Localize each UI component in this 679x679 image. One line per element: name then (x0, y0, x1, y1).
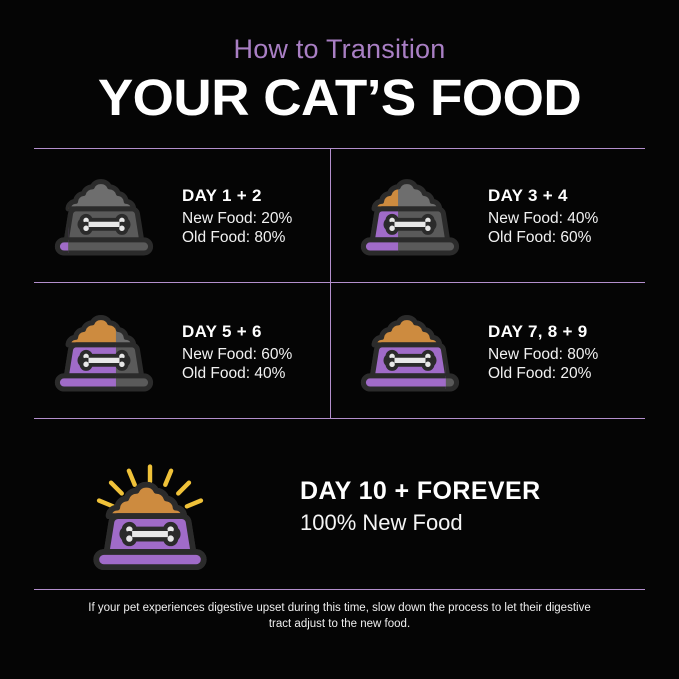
step-card-day-7-8-9: DAY 7, 8 + 9 New Food: 80% Old Food: 20% (340, 288, 636, 416)
pet-food-bowl-icon (348, 309, 472, 395)
pet-food-bowl-icon (42, 173, 166, 259)
new-food-line: New Food: 80% (488, 345, 598, 364)
old-food-line: Old Food: 60% (488, 228, 598, 247)
shine-rays-icon (55, 439, 245, 574)
bowl-illustration-day-5-6 (34, 309, 174, 395)
header: How to Transition YOUR CAT’S FOOD (0, 34, 679, 125)
old-food-line: Old Food: 20% (488, 364, 598, 383)
final-subtitle: 100% New Food (300, 509, 541, 537)
new-food-line: New Food: 20% (182, 209, 292, 228)
footer-note: If your pet experiences digestive upset … (78, 601, 601, 632)
bowl-illustration-day-7-8-9 (340, 309, 480, 395)
day-label: DAY 3 + 4 (488, 185, 598, 206)
final-step-card: DAY 10 + FOREVER 100% New Food (0, 432, 679, 580)
pet-food-bowl-icon (42, 309, 166, 395)
step-card-day-3-4: DAY 3 + 4 New Food: 40% Old Food: 60% (340, 152, 636, 280)
final-day-label: DAY 10 + FOREVER (300, 476, 541, 506)
page-title: YOUR CAT’S FOOD (0, 71, 679, 125)
infographic-page: How to Transition YOUR CAT’S FOOD DAY 1 … (0, 0, 679, 679)
step-text-day-5-6: DAY 5 + 6 New Food: 60% Old Food: 40% (182, 321, 292, 383)
new-food-line: New Food: 60% (182, 345, 292, 364)
day-label: DAY 1 + 2 (182, 185, 292, 206)
step-card-day-5-6: DAY 5 + 6 New Food: 60% Old Food: 40% (34, 288, 330, 416)
day-label: DAY 7, 8 + 9 (488, 321, 598, 342)
final-step-text: DAY 10 + FOREVER 100% New Food (300, 476, 541, 537)
step-card-day-1-2: DAY 1 + 2 New Food: 20% Old Food: 80% (34, 152, 330, 280)
step-text-day-3-4: DAY 3 + 4 New Food: 40% Old Food: 60% (488, 185, 598, 247)
old-food-line: Old Food: 40% (182, 364, 292, 383)
bowl-illustration-day-10-forever (0, 439, 300, 574)
pet-food-bowl-icon (348, 173, 472, 259)
bowl-illustration-day-1-2 (34, 173, 174, 259)
new-food-line: New Food: 40% (488, 209, 598, 228)
divider-grid-middle (34, 282, 645, 283)
old-food-line: Old Food: 80% (182, 228, 292, 247)
bowl-illustration-day-3-4 (340, 173, 480, 259)
day-label: DAY 5 + 6 (182, 321, 292, 342)
step-text-day-1-2: DAY 1 + 2 New Food: 20% Old Food: 80% (182, 185, 292, 247)
divider-footer (34, 589, 645, 590)
step-text-day-7-8-9: DAY 7, 8 + 9 New Food: 80% Old Food: 20% (488, 321, 598, 383)
divider-grid-top (34, 148, 645, 149)
kicker-text: How to Transition (0, 34, 679, 64)
divider-vertical (330, 148, 331, 418)
divider-grid-bottom (34, 418, 645, 419)
